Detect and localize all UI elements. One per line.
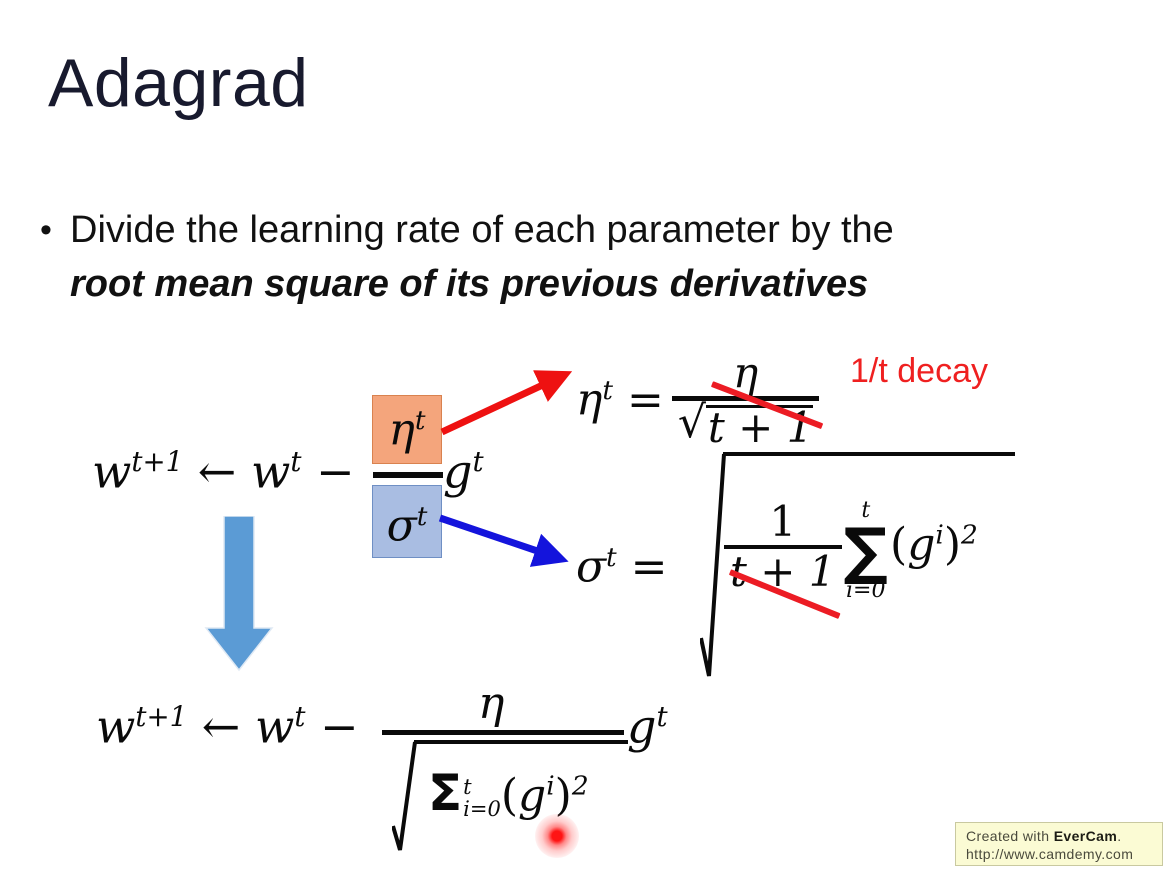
bullet-line-1: Divide the learning rate of each paramet… (70, 203, 1100, 257)
bullet-text-wrap: Divide the learning rate of each paramet… (70, 203, 1100, 311)
sum-upper-limit: t (463, 776, 501, 798)
main-fraction-bar (373, 472, 443, 478)
sigma-glyph-icon: Σ (428, 764, 462, 822)
main-formula-left: wt+1 ← wt − (92, 448, 355, 494)
slide-canvas: Adagrad • Divide the learning rate of ea… (0, 0, 1172, 872)
watermark-brand: EverCam (1054, 828, 1118, 844)
laser-pointer-dot (535, 814, 579, 858)
bottom-summand: (gi)2 (501, 770, 589, 821)
bullet-marker: • (40, 203, 70, 257)
eta-equation-fraction: η√t + 1 (672, 352, 820, 449)
eta-highlight-box: ηt (372, 395, 442, 464)
sigma-summand: (gi)2 (890, 519, 978, 570)
bottom-formula-left: wt+1 ← wt − (96, 703, 359, 749)
radical-icon (392, 740, 420, 852)
watermark-suffix: . (1117, 828, 1121, 844)
evercam-watermark: Created with EverCam. http://www.camdemy… (955, 822, 1163, 866)
down-arrow-icon (203, 516, 275, 672)
bullet-line-2: root mean square of its previous derivat… (70, 257, 1100, 311)
sigma-highlight-box: σt (372, 485, 442, 558)
bottom-fraction-bar (382, 730, 624, 735)
bottom-radical-vinculum (414, 740, 628, 744)
sigma-coefficient-denominator: t + 1 (724, 551, 842, 593)
bullet-item: • Divide the learning rate of each param… (40, 203, 1100, 311)
sum-lower-limit: i=0 (844, 579, 889, 603)
watermark-line-2: http://www.camdemy.com (966, 845, 1154, 863)
bottom-formula-numerator: η (478, 682, 504, 726)
eta-box-label: ηt (373, 408, 441, 453)
bottom-formula-summation: Σti=0(gi)2 (428, 768, 589, 820)
eta-equation-denominator: √t + 1 (672, 403, 820, 449)
radical-icon: √ (678, 401, 706, 445)
summation-symbol: t∑i=0 (844, 499, 889, 603)
main-formula-gradient: gt (443, 448, 484, 494)
blue-arrow-icon (436, 508, 578, 574)
watermark-line-1: Created with EverCam. (966, 827, 1154, 845)
eta-equation: ηt =η√t + 1 (576, 352, 819, 449)
bullet-block: • Divide the learning rate of each param… (40, 203, 1100, 311)
page-title: Adagrad (48, 48, 309, 119)
sigma-equation-lhs: σt = (576, 545, 668, 590)
eta-equation-numerator: η (672, 352, 820, 394)
sum-lower-limit: i=0 (463, 798, 501, 820)
bottom-formula-gradient: gt (627, 703, 668, 749)
decay-annotation: 1/t decay (850, 352, 988, 391)
sigma-box-label: σt (373, 504, 441, 549)
watermark-prefix: Created with (966, 828, 1054, 844)
sigma-glyph-icon: ∑ (844, 523, 889, 579)
eta-equation-lhs: ηt = (576, 378, 664, 423)
sigma-radical-vinculum (723, 452, 1015, 456)
red-arrow-icon (438, 362, 578, 438)
sum-limits: ti=0 (463, 776, 501, 820)
sigma-coefficient-numerator: 1 (724, 501, 842, 543)
summation-symbol: Σti=0 (428, 768, 501, 820)
